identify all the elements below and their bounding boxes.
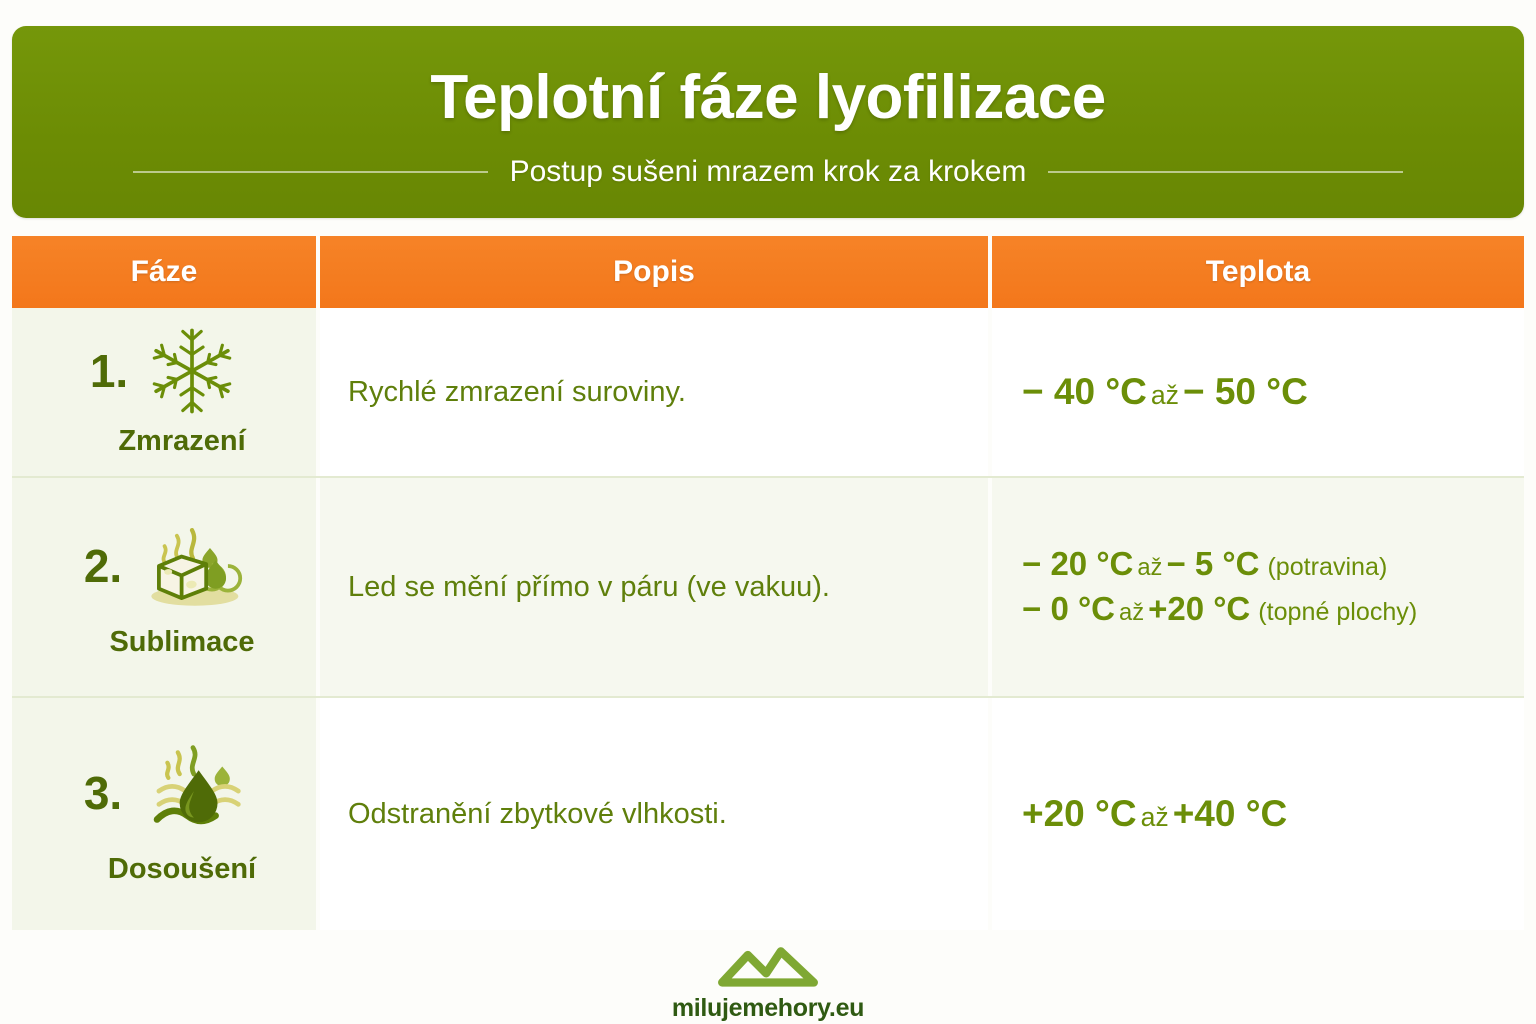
temperature-line: − 40 °Caž− 50 °C xyxy=(1022,367,1308,417)
column-header-faze: Fáze xyxy=(12,236,316,308)
cell-phase: 2. xyxy=(12,478,316,696)
cell-phase: 1. xyxy=(12,308,316,476)
column-header-popis: Popis xyxy=(320,236,988,308)
ice-cube-sublimation-icon xyxy=(140,514,244,618)
cell-description: Odstranění zbytkové vlhkosti. xyxy=(320,698,988,930)
phase-label: Sublimace xyxy=(73,626,254,659)
infographic-page: Teplotní fáze lyofilizace Postup sušeni … xyxy=(0,0,1536,1024)
temp-from: +20 °C xyxy=(1022,793,1137,834)
cell-phase: 3. xyxy=(12,698,316,930)
table-row: 2. xyxy=(12,478,1524,698)
footer: milujemehory.eu xyxy=(12,930,1524,1024)
temp-to: +40 °C xyxy=(1173,793,1288,834)
table-row: 1. xyxy=(12,308,1524,478)
column-header-teplota: Teplota xyxy=(992,236,1524,308)
temperature-line: +20 °Caž+40 °C xyxy=(1022,789,1287,839)
phase-label: Dosoušení xyxy=(72,853,256,886)
table-row: 3. xyxy=(12,698,1524,930)
temp-note: (potravina) xyxy=(1259,553,1387,581)
temp-from: − 20 °C xyxy=(1022,545,1133,582)
phases-table: Fáze Popis Teplota 1. xyxy=(12,236,1524,930)
phase-top: 1. xyxy=(90,325,238,417)
temp-to: +20 °C xyxy=(1148,590,1250,627)
temperature-line: − 20 °Caž− 5 °C(potravina) xyxy=(1022,542,1387,587)
phase-top: 2. xyxy=(84,514,244,618)
phase-number: 3. xyxy=(84,770,122,816)
droplet-heat-icon xyxy=(140,741,244,845)
phase-number: 1. xyxy=(90,348,128,394)
phase-label: Zmrazení xyxy=(82,425,245,458)
subtitle-rule-left xyxy=(133,171,488,173)
cell-description: Rychlé zmrazení suroviny. xyxy=(320,308,988,476)
subtitle-rule-right xyxy=(1048,171,1403,173)
table-header-row: Fáze Popis Teplota xyxy=(12,236,1524,308)
temp-from: − 40 °C xyxy=(1022,371,1147,412)
temp-to: − 50 °C xyxy=(1183,371,1308,412)
cell-description: Led se mění přímo v páru (ve vakuu). xyxy=(320,478,988,696)
temp-conjunction: až xyxy=(1147,380,1183,410)
header-banner: Teplotní fáze lyofilizace Postup sušeni … xyxy=(12,26,1524,218)
temp-note: (topné plochy) xyxy=(1250,598,1417,626)
subtitle-row: Postup sušeni mrazem krok za krokem xyxy=(12,155,1524,189)
snowflake-icon xyxy=(146,325,238,417)
cell-temperature: +20 °Caž+40 °C xyxy=(992,698,1524,930)
page-title: Teplotní fáze lyofilizace xyxy=(430,67,1105,129)
temp-from: − 0 °C xyxy=(1022,590,1115,627)
footer-site-url: milujemehory.eu xyxy=(672,994,864,1023)
temp-conjunction: až xyxy=(1133,554,1166,581)
temp-conjunction: až xyxy=(1137,802,1173,832)
temp-conjunction: až xyxy=(1115,599,1148,626)
mountain-logo-icon xyxy=(713,942,823,990)
temp-to: − 5 °C xyxy=(1166,545,1259,582)
cell-temperature: − 40 °Caž− 50 °C xyxy=(992,308,1524,476)
cell-temperature: − 20 °Caž− 5 °C(potravina) − 0 °Caž+20 °… xyxy=(992,478,1524,696)
page-subtitle: Postup sušeni mrazem krok za krokem xyxy=(488,155,1049,189)
phase-top: 3. xyxy=(84,741,244,845)
temperature-line: − 0 °Caž+20 °C(topné plochy) xyxy=(1022,587,1417,632)
phase-number: 2. xyxy=(84,543,122,589)
